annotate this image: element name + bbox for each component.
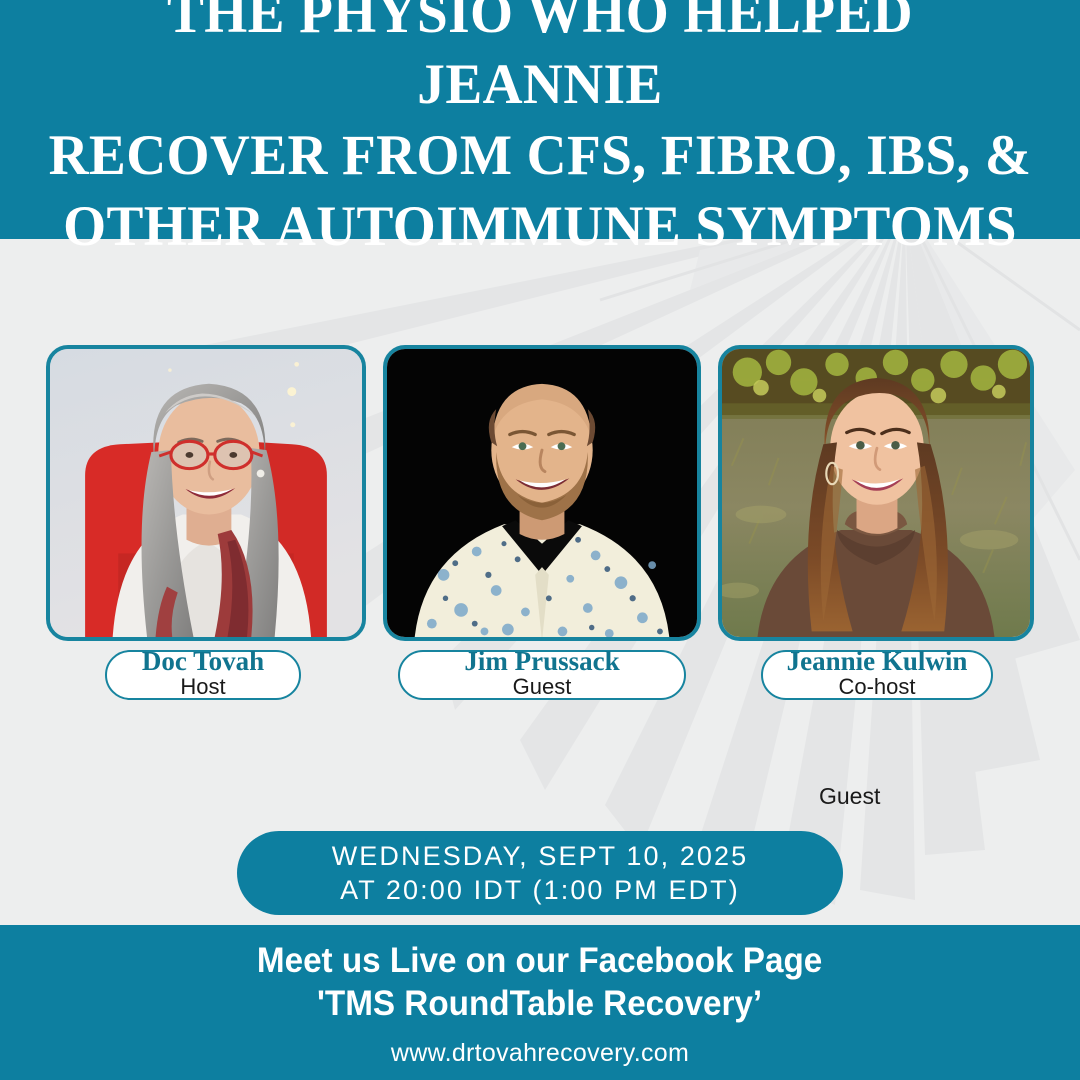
- panelist-card-1: [46, 345, 366, 641]
- panelist-name: Jim Prussack: [464, 648, 619, 675]
- stray-guest-label: Guest: [819, 783, 880, 810]
- panelist-name: Jeannie Kulwin: [787, 648, 968, 675]
- panelist-role: Co-host: [838, 675, 915, 699]
- header-band: THE PHYSIO WHO HELPED JEANNIE RECOVER FR…: [0, 0, 1080, 239]
- panelist-photo-doc-tovah: [50, 349, 362, 637]
- event-time: AT 20:00 IDT (1:00 PM EDT): [340, 873, 740, 907]
- event-datetime-pill: WEDNESDAY, SEPT 10, 2025 AT 20:00 IDT (1…: [237, 831, 843, 915]
- panelist-name: Doc Tovah: [142, 648, 264, 675]
- panelist-photo-jeannie-kulwin: [722, 349, 1030, 637]
- name-badge-1: Doc Tovah Host: [105, 650, 301, 700]
- panelist-photo-jim-prussack: [387, 349, 697, 637]
- page-title: THE PHYSIO WHO HELPED JEANNIE RECOVER FR…: [16, 0, 1064, 262]
- event-date: WEDNESDAY, SEPT 10, 2025: [332, 839, 749, 873]
- panelist-card-2: [383, 345, 701, 641]
- name-badge-3: Jeannie Kulwin Co-host: [761, 650, 993, 700]
- footer-headline: Meet us Live on our Facebook Page 'TMS R…: [257, 939, 822, 1025]
- event-promo-poster: THE PHYSIO WHO HELPED JEANNIE RECOVER FR…: [0, 0, 1080, 1080]
- footer-website-url[interactable]: www.drtovahrecovery.com: [391, 1039, 689, 1067]
- footer-band: Meet us Live on our Facebook Page 'TMS R…: [0, 925, 1080, 1080]
- panelist-role: Guest: [513, 675, 572, 699]
- panelist-role: Host: [180, 675, 225, 699]
- name-badge-2: Jim Prussack Guest: [398, 650, 686, 700]
- panelist-card-3: [718, 345, 1034, 641]
